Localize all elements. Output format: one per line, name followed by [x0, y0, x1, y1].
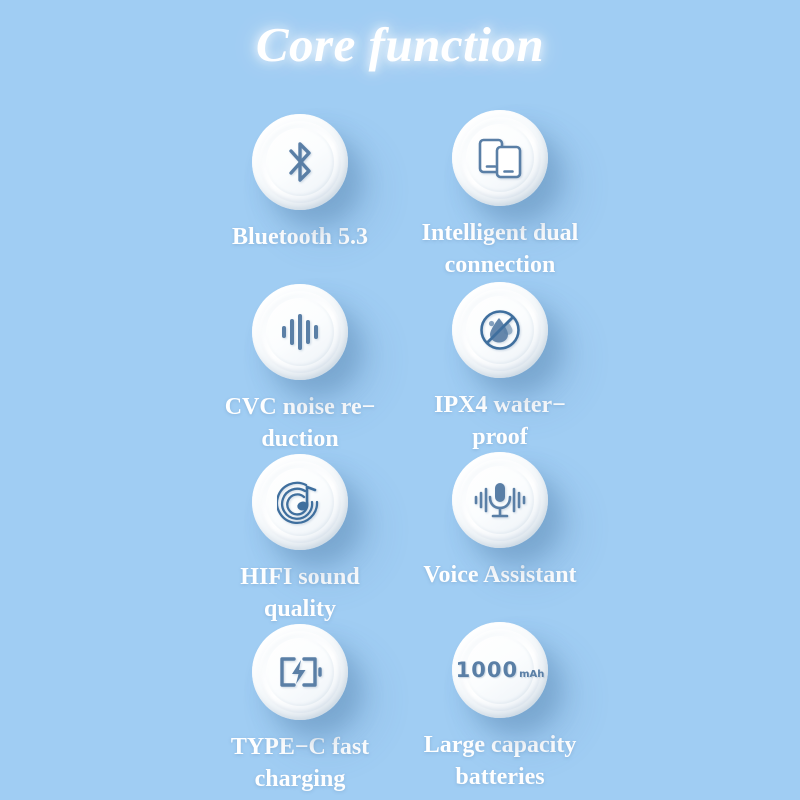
feature-item-voice-assistant[interactable]: Voice Assistant: [380, 450, 620, 592]
feature-row: HIFI sound quality: [0, 452, 800, 622]
feature-badge[interactable]: 1000 mAh: [452, 622, 548, 718]
battery-charging-icon: [252, 624, 348, 720]
feature-badge[interactable]: [252, 114, 348, 210]
battery-capacity-icon: 1000 mAh: [452, 622, 548, 718]
feature-label: IPX4 water− proof: [380, 390, 620, 453]
feature-badge[interactable]: [252, 454, 348, 550]
sound-wave-icon: [252, 284, 348, 380]
feature-item-dual-connection[interactable]: Intelligent dual connection: [380, 108, 620, 281]
battery-capacity-text: 1000 mAh: [456, 658, 545, 682]
microphone-icon: [452, 452, 548, 548]
feature-badge[interactable]: [452, 452, 548, 548]
feature-item-waterproof[interactable]: IPX4 water− proof: [380, 280, 620, 453]
badge-wrap: [380, 450, 620, 554]
bluetooth-icon: [252, 114, 348, 210]
dual-device-connection-icon: [452, 110, 548, 206]
page-title: Core function: [0, 16, 800, 73]
feature-label: Intelligent dual connection: [380, 218, 620, 281]
feature-badge[interactable]: [252, 284, 348, 380]
battery-capacity-unit: mAh: [519, 669, 544, 680]
feature-item-battery-capacity[interactable]: 1000 mAh Large capacity batteries: [380, 620, 620, 793]
feature-row: TYPE−C fast charging 1000 mAh Large capa…: [0, 622, 800, 792]
badge-wrap: [380, 280, 620, 384]
feature-row: CVC noise re− duction: [0, 282, 800, 452]
feature-badge[interactable]: [452, 282, 548, 378]
badge-wrap: [380, 108, 620, 212]
feature-badge[interactable]: [252, 624, 348, 720]
feature-row: Bluetooth 5.3 Intelli: [0, 112, 800, 282]
hifi-music-note-icon: [252, 454, 348, 550]
feature-badge[interactable]: [452, 110, 548, 206]
feature-label: Large capacity batteries: [380, 730, 620, 793]
feature-label: Voice Assistant: [380, 560, 620, 592]
battery-capacity-number: 1000: [456, 658, 518, 682]
waterproof-icon: [452, 282, 548, 378]
badge-wrap: 1000 mAh: [380, 620, 620, 724]
feature-grid: Bluetooth 5.3 Intelli: [0, 112, 800, 792]
